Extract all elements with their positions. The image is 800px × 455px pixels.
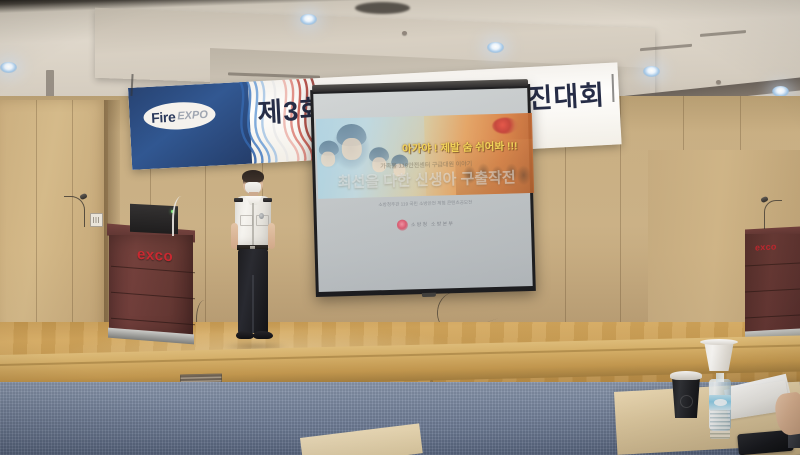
- coffee-cup-lid: [670, 371, 702, 380]
- face-shape: [342, 138, 363, 161]
- podium-left-logo: exco: [137, 246, 173, 266]
- uniform-badge-icon: [259, 213, 264, 219]
- shoe-right: [253, 331, 273, 339]
- bottle-label: [709, 395, 731, 410]
- person-arm-right: [268, 223, 275, 249]
- coffee-cup-body: [672, 377, 700, 418]
- shirt-pocket-left: [240, 215, 253, 226]
- banner-logo-primary: Fire: [151, 108, 176, 125]
- bottle-label-mark: [714, 399, 727, 406]
- slide-emblem-icon: [492, 117, 518, 134]
- coffee-cup: [672, 371, 700, 417]
- downlight-icon: [487, 42, 504, 53]
- ceiling-vent: [355, 2, 410, 14]
- shoe-left: [236, 331, 254, 339]
- podium-seam: [111, 266, 195, 274]
- epaulette-left: [234, 198, 243, 202]
- downlight-icon: [0, 62, 17, 73]
- downlight-icon: [643, 66, 660, 77]
- slide-credit: 소방청주관 119 국민 소방안전 체험 콘텐츠공모전: [358, 199, 492, 209]
- conference-hall-photo: Fire EXPO 제3회 경진대회 상황실: [0, 0, 800, 455]
- screen-surface: 아가야 ! 제발 숨 쉬어봐 !!! 가족을 119안전센터 구급대원 이야기 …: [313, 88, 532, 292]
- slide-content: 아가야 ! 제발 숨 쉬어봐 !!! 가족을 119안전센터 구급대원 이야기 …: [316, 113, 534, 199]
- sprinkler-icon: [716, 80, 721, 84]
- fire-agency-emblem-icon: [397, 219, 408, 230]
- wall-panel-seam: [36, 100, 37, 350]
- podium-seam: [111, 292, 195, 300]
- paper-cup-rim: [700, 339, 738, 345]
- podium-left: exco: [107, 227, 195, 345]
- projection-screen: 아가야 ! 제발 숨 쉬어봐 !!! 가족을 119안전센터 구급대원 이야기 …: [310, 84, 536, 297]
- fire-expo-logo: Fire EXPO: [143, 100, 216, 131]
- face-shape: [321, 151, 335, 166]
- downlight-icon: [300, 14, 317, 25]
- podium-right-microphone: [762, 200, 784, 230]
- microphone-head-icon: [79, 193, 87, 200]
- bottle-neck: [716, 373, 724, 382]
- podium-seam: [745, 289, 800, 293]
- screen-pull-tab: [422, 293, 436, 297]
- coffee-cup-logo-icon: [680, 395, 693, 408]
- microphone-gooseneck: [764, 200, 782, 229]
- water-bottle: [709, 369, 731, 431]
- left-wall: [0, 100, 108, 350]
- banner-logo-secondary: EXPO: [177, 108, 208, 122]
- bottle-body: [709, 379, 731, 431]
- presenter-person: [230, 171, 276, 347]
- white-cable: [172, 196, 188, 236]
- microphone-gooseneck: [64, 196, 85, 227]
- av-equipment: [130, 204, 178, 235]
- sprinkler-icon: [402, 31, 407, 35]
- epaulette-right: [263, 198, 272, 202]
- wall-outlet: [90, 213, 103, 227]
- podium-right-logo: exco: [755, 241, 777, 252]
- podium-left-microphone: [64, 196, 90, 230]
- podium-seam: [745, 315, 800, 319]
- ceiling-air-slot-right2: [700, 30, 746, 37]
- bottle-ribs: [710, 409, 730, 439]
- slide-footer-logo: 소방청 소방본부: [397, 218, 454, 231]
- trouser-split: [252, 275, 254, 333]
- podium-right: exco: [745, 228, 800, 348]
- podium-seam: [745, 263, 800, 267]
- podium-seam: [111, 318, 195, 326]
- slide-footer-org: 소방청 소방본부: [411, 220, 454, 228]
